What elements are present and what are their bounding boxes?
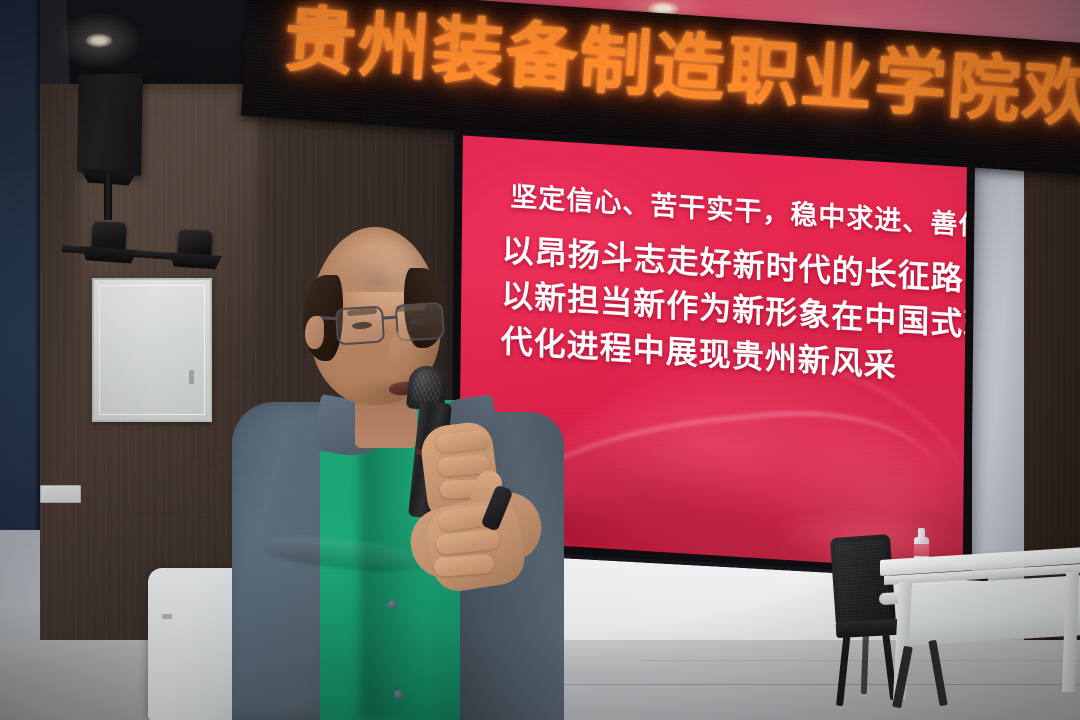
nose <box>390 332 412 370</box>
jacket-button-2 <box>394 690 403 699</box>
photo-scene: 贵州装备制造职业学院欢迎您 坚定信心、苦干实干，稳中求进、善作善成 以昂扬斗志走… <box>0 0 1080 720</box>
lens-left <box>335 306 385 346</box>
presenter <box>0 0 1080 720</box>
jacket-button-1 <box>388 600 397 609</box>
ear-left <box>305 316 324 349</box>
